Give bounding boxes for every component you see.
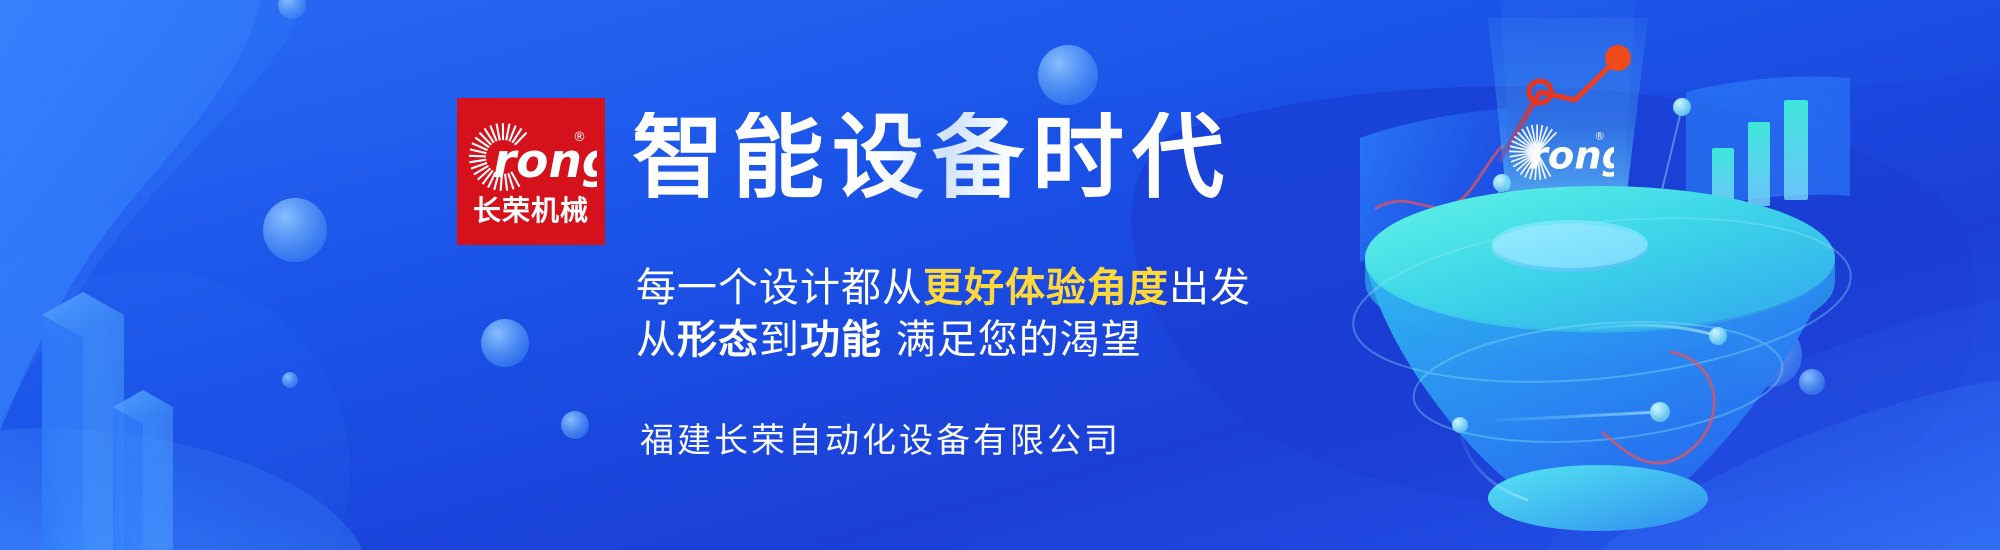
circle-1 <box>263 198 327 262</box>
cone-node-3 <box>1452 417 1468 433</box>
subtitle-line-2: 从形态到功能 满足您的渴望 <box>636 320 1142 360</box>
sunburst-rays-icon: rong ® <box>465 119 597 199</box>
circle-5 <box>1038 45 1098 105</box>
funnel-illustration: rong ® <box>1330 0 1890 550</box>
trend-node-solid <box>1605 45 1631 71</box>
funnel-registered-mark-icon: ® <box>1594 129 1605 142</box>
company-name: 福建长荣自动化设备有限公司 <box>640 424 1121 458</box>
circle-4 <box>561 411 589 439</box>
circle-8 <box>278 0 306 19</box>
hero-banner: rong ® 长荣机械 智能设备时代 每一个设计都从更好体验角度出发 从形态到功… <box>0 0 2000 550</box>
cone-node-1 <box>1709 327 1727 345</box>
circle-3 <box>481 319 529 367</box>
bar-chart-panel <box>1686 77 1850 212</box>
subtitle-1-part2: 出发 <box>1169 265 1251 311</box>
subtitle-1-highlight: 更好体验角度 <box>923 265 1169 311</box>
subtitle-1-part1: 每一个设计都从 <box>636 265 923 311</box>
sunburst-rays-icon: rong ® <box>1506 118 1614 190</box>
subtitle-2-part3: 满足您的渴望 <box>882 317 1142 363</box>
registered-mark-icon: ® <box>573 130 586 145</box>
bar-2 <box>1748 122 1770 206</box>
tall-pillar <box>42 292 124 550</box>
subtitle-2-bold1: 形态 <box>677 317 759 363</box>
circle-2 <box>282 372 298 388</box>
page-title: 智能设备时代 <box>632 112 1232 204</box>
pin-node-right <box>1673 98 1691 116</box>
funnel-inner-logo: rong ® <box>1506 118 1614 190</box>
company-logo: rong ® 长荣机械 <box>457 98 605 245</box>
logo-chinese-name: 长荣机械 <box>473 197 589 225</box>
wave-top-left <box>0 0 260 430</box>
logo-mark: rong ® <box>465 119 597 199</box>
bar-3 <box>1784 100 1808 200</box>
subtitle-line-1: 每一个设计都从更好体验角度出发 <box>636 268 1251 308</box>
subtitle-2-part1: 从 <box>636 317 677 363</box>
subtitle-2-part2: 到 <box>759 317 800 363</box>
subtitle-2-bold2: 功能 <box>800 317 882 363</box>
cone-node-2 <box>1650 402 1670 422</box>
wave-bottom-left <box>0 428 362 550</box>
short-pillar <box>113 390 173 550</box>
